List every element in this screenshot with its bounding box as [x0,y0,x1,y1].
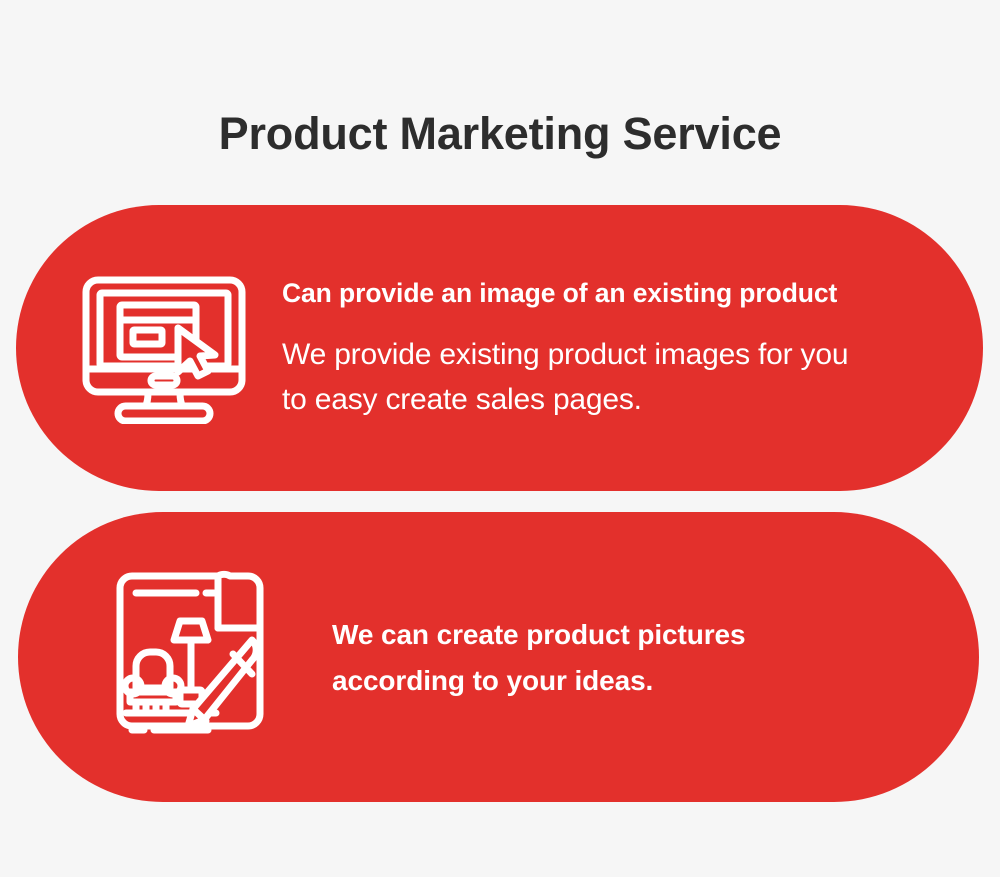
card-description-line: We can create product pictures [332,612,979,658]
page-title: Product Marketing Service [0,106,1000,162]
card-description-line: according to your ideas. [332,658,979,704]
card-description-line: to easy create sales pages. [282,377,983,422]
card-description-line: We provide existing product images for y… [282,332,983,377]
product-marketing-service-page: Product Marketing Service [0,0,1000,877]
card-existing-product-image[interactable]: Can provide an image of an existing prod… [16,205,983,491]
card-description: We provide existing product images for y… [282,332,983,422]
card-custom-product-picture[interactable]: We can create product pictures according… [18,512,979,802]
card-body: Can provide an image of an existing prod… [282,276,983,422]
monitor-cursor-icon [78,272,250,424]
card-description: We can create product pictures according… [332,612,979,704]
card-heading: Can provide an image of an existing prod… [282,276,983,310]
card-body: We can create product pictures according… [332,612,979,704]
sketchpad-pencil-icon [100,568,272,746]
